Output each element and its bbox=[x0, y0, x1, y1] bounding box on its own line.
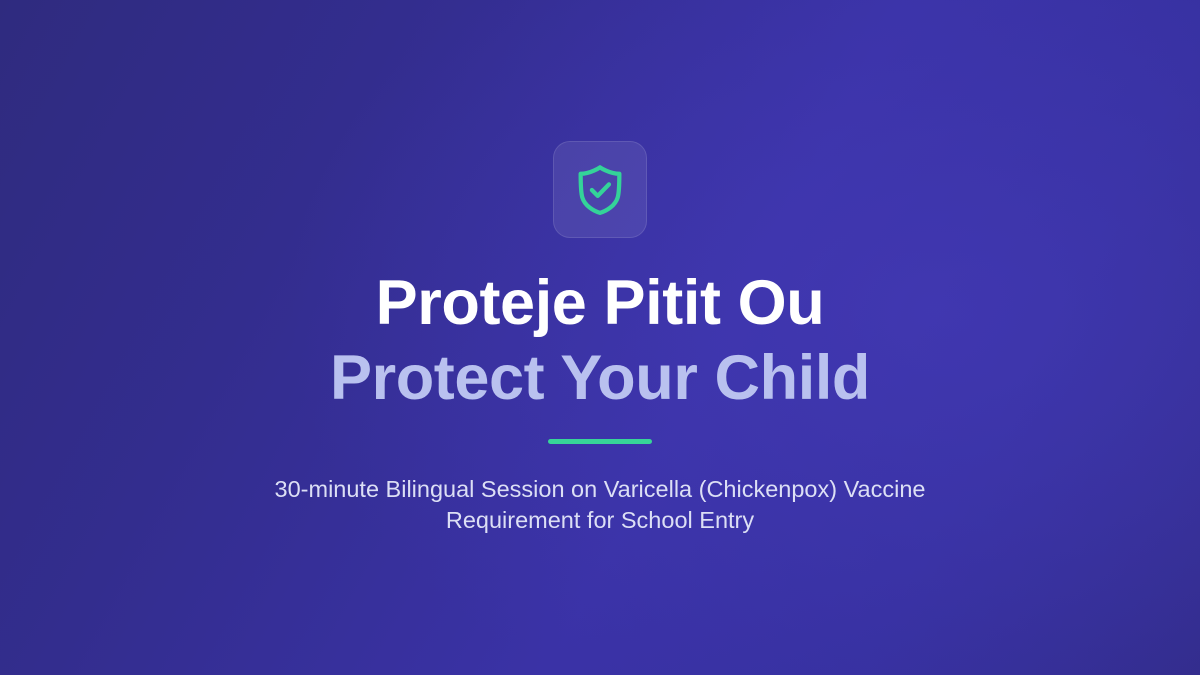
icon-tile bbox=[553, 141, 647, 238]
title-primary: Proteje Pitit Ou bbox=[0, 266, 1200, 341]
subtitle: 30-minute Bilingual Session on Varicella… bbox=[220, 474, 980, 536]
accent-divider bbox=[548, 439, 652, 444]
title-secondary: Protect Your Child bbox=[0, 341, 1200, 416]
shield-check-icon bbox=[575, 164, 625, 216]
title-slide: Proteje Pitit Ou Protect Your Child 30-m… bbox=[0, 0, 1200, 675]
headline-block: Proteje Pitit Ou Protect Your Child bbox=[0, 266, 1200, 416]
